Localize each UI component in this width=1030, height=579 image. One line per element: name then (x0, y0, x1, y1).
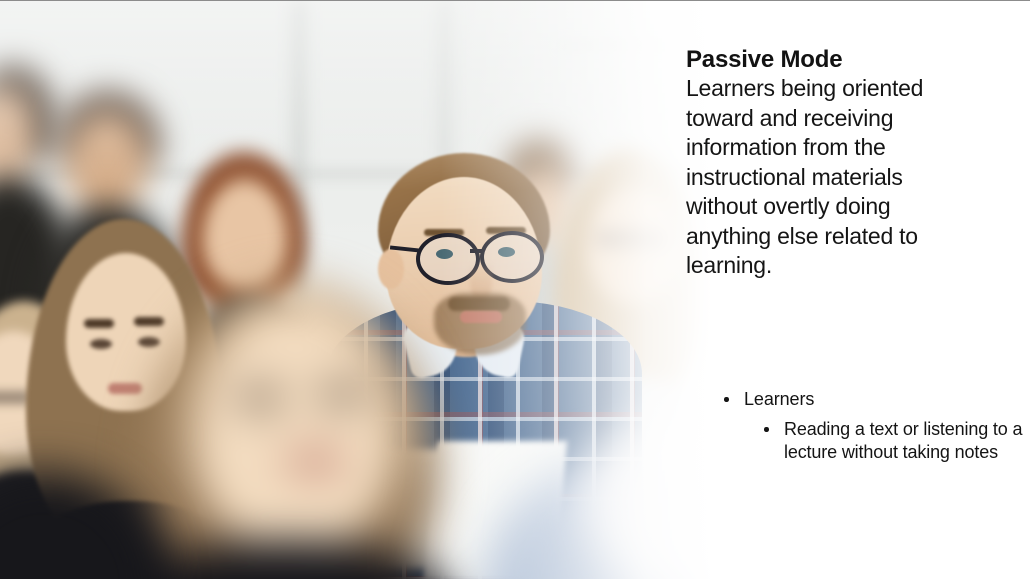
definition-paragraph: Learners being oriented toward and recei… (686, 74, 962, 281)
moustache (448, 297, 510, 311)
eye-right (498, 247, 515, 257)
ear (378, 249, 404, 289)
bullet-label: Learners (744, 389, 814, 409)
photo-scene (0, 1, 760, 579)
bullet-list: Learners Reading a text or listening to … (686, 387, 1030, 463)
lips (460, 311, 502, 323)
slide-title: Passive Mode (686, 45, 842, 74)
slide: Passive Mode Learners being oriented tow… (0, 0, 1030, 579)
bullet-item-learners: Learners (686, 387, 1030, 411)
bullet-dot-icon (764, 427, 769, 432)
glasses-bridge (470, 249, 484, 253)
text-column: Passive Mode Learners being oriented tow… (686, 1, 1030, 579)
bullet-sublabel: Reading a text or listening to a lecture… (784, 419, 1022, 462)
bullet-subitem-reading: Reading a text or listening to a lecture… (686, 418, 1030, 463)
eye-left (436, 249, 453, 259)
bullet-dot-icon (724, 397, 729, 402)
lecture-hall-photo (0, 1, 760, 579)
